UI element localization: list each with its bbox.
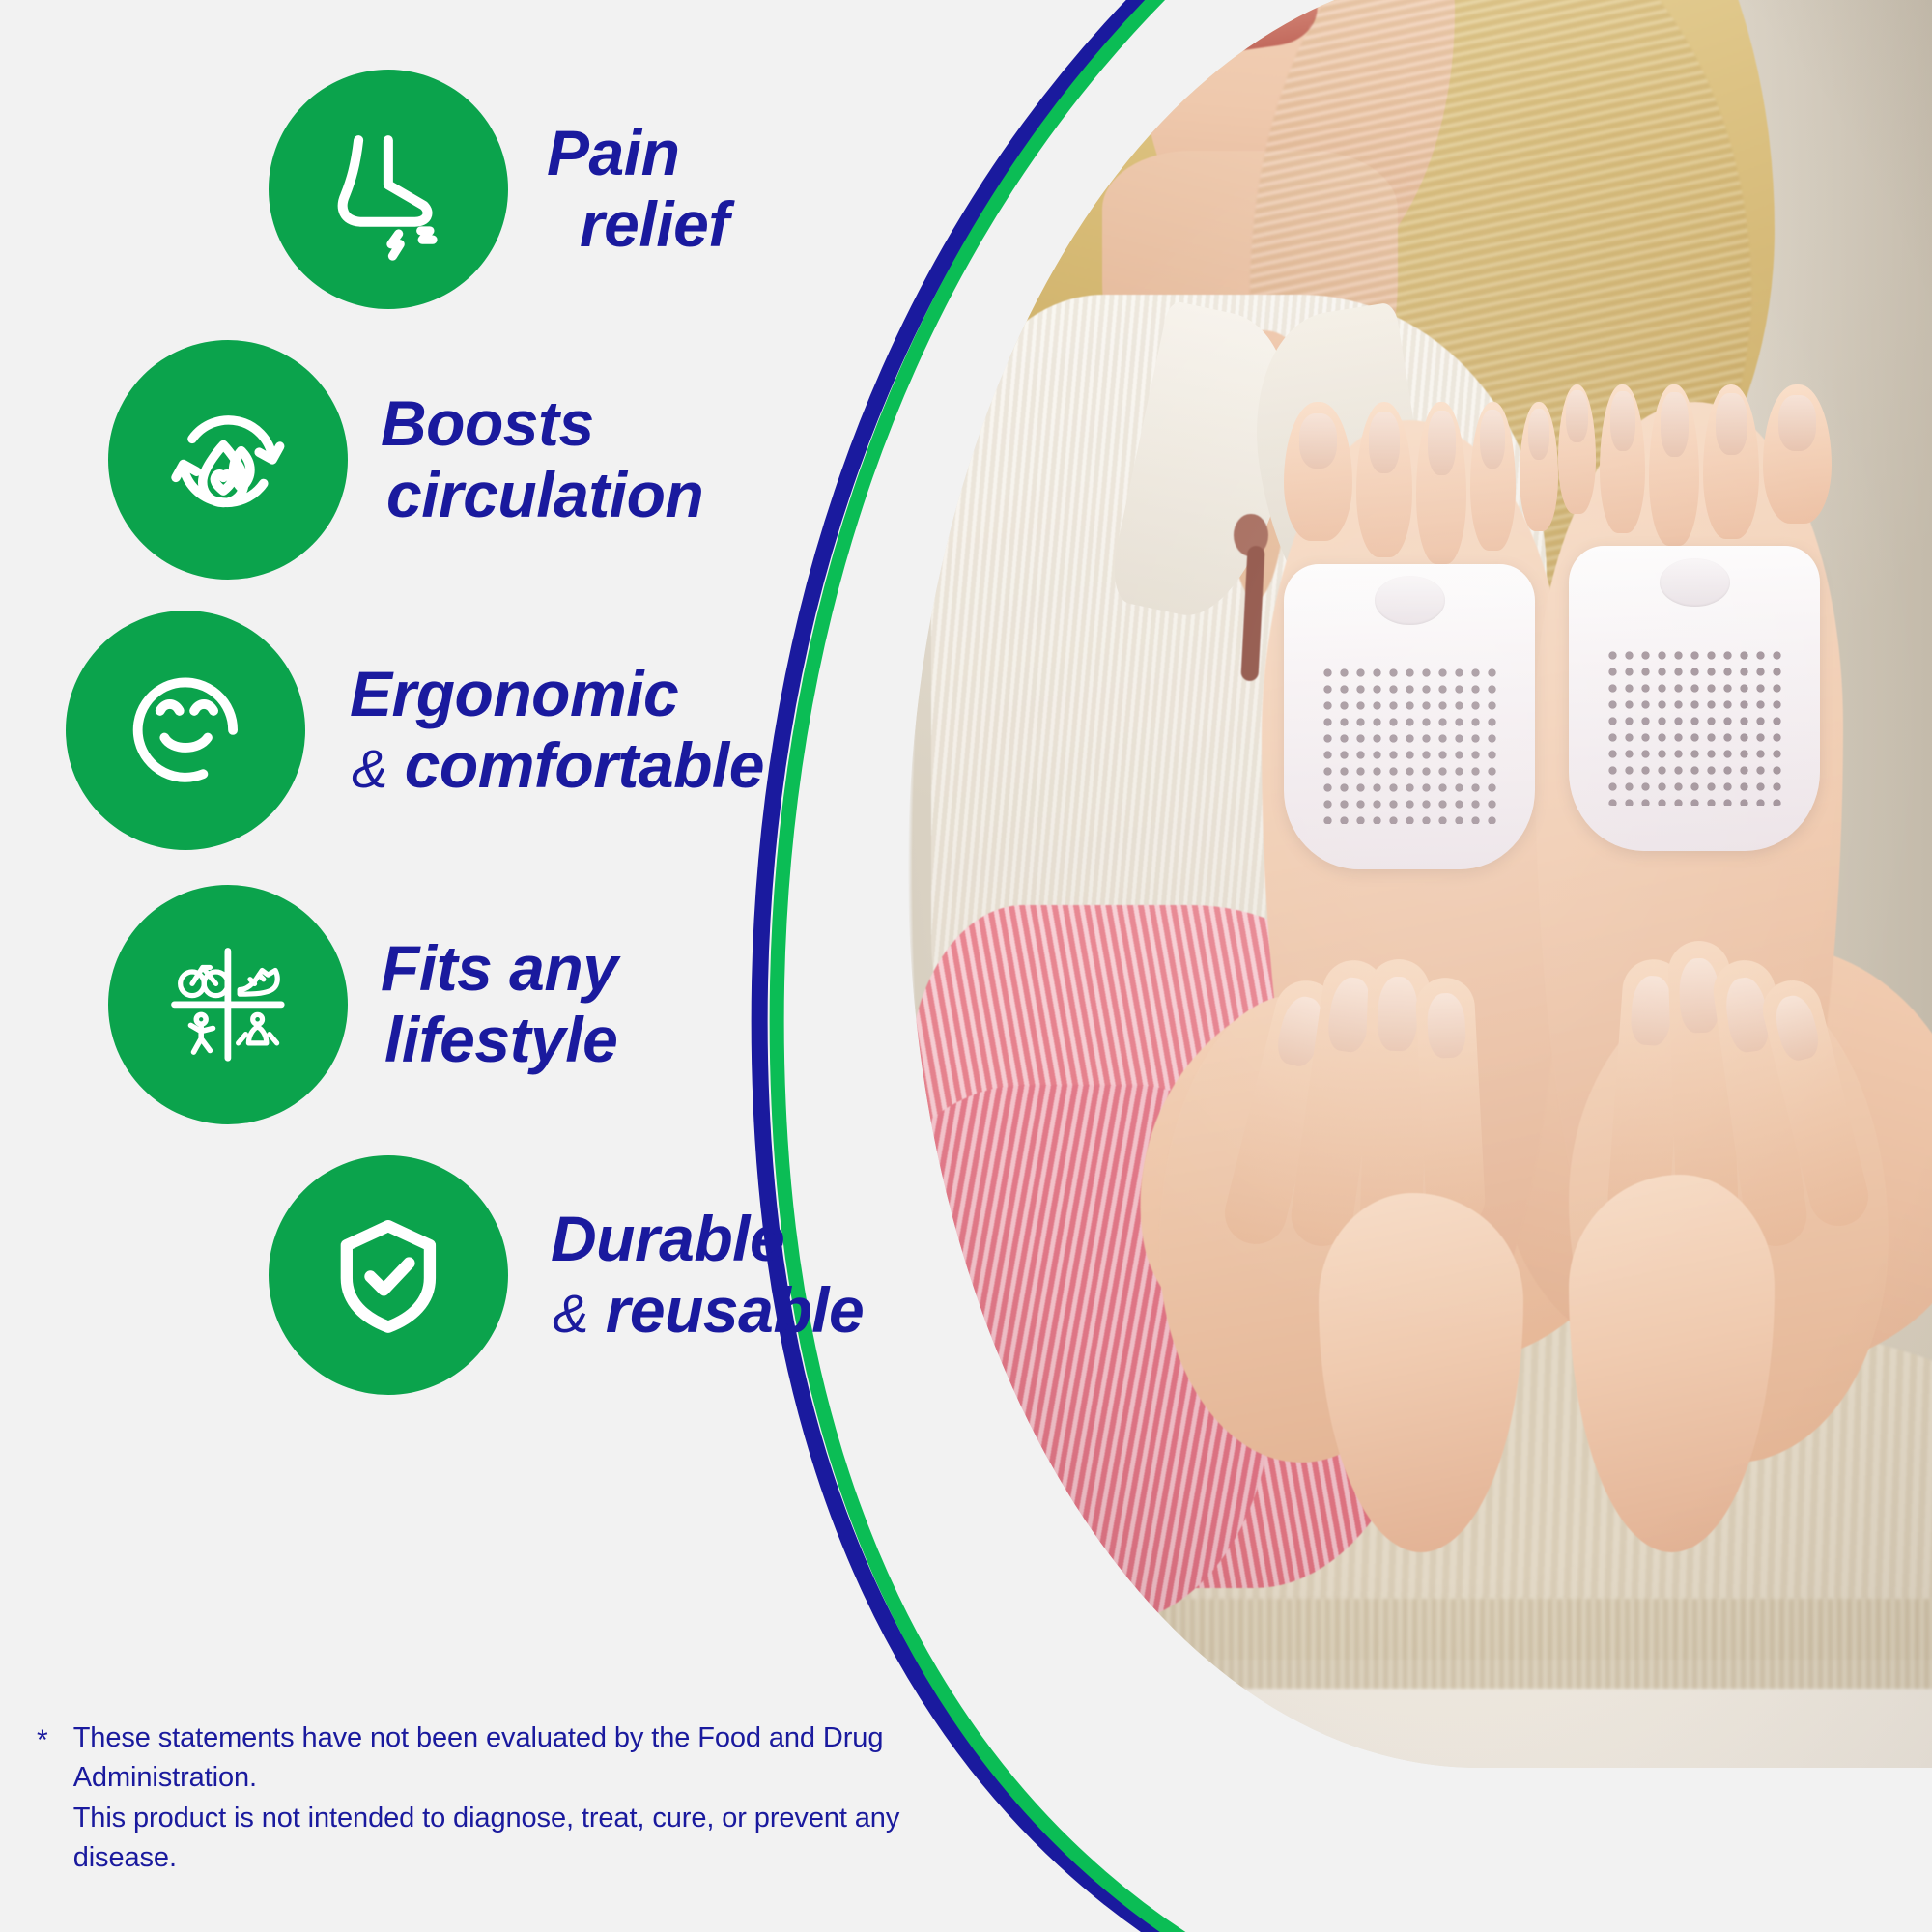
feature-label-line1: Boosts bbox=[381, 388, 703, 460]
feature-label: Durable & reusable bbox=[551, 1204, 864, 1347]
shield-check-icon bbox=[314, 1201, 463, 1350]
disclaimer-marker: * bbox=[37, 1719, 48, 1755]
feature-item-ergonomic[interactable]: Ergonomic & comfortable bbox=[66, 611, 764, 850]
feature-label-line2: reusable bbox=[606, 1274, 864, 1346]
feature-label-ampersand: & bbox=[352, 738, 387, 799]
feature-label-ampersand: & bbox=[553, 1283, 588, 1344]
feature-label-line2: circulation bbox=[381, 460, 703, 531]
smiley-face-icon bbox=[111, 656, 260, 805]
feature-icon-circle bbox=[269, 70, 508, 309]
feature-item-boosts-circulation[interactable]: Boosts circulation bbox=[108, 340, 703, 580]
foot-patch-left bbox=[1284, 564, 1535, 869]
feature-label: Boosts circulation bbox=[381, 388, 703, 531]
product-photo bbox=[908, 0, 1932, 1768]
feature-list: Pain relief bbox=[0, 0, 908, 1507]
feature-item-pain-relief[interactable]: Pain relief bbox=[269, 70, 729, 309]
feature-icon-circle bbox=[269, 1155, 508, 1395]
feature-label-line2-wrap: & comfortable bbox=[350, 730, 764, 802]
infographic-canvas: Pain relief bbox=[0, 0, 1932, 1932]
feature-label-line2: relief bbox=[547, 189, 729, 261]
feature-icon-circle bbox=[108, 885, 348, 1124]
feature-icon-circle bbox=[66, 611, 305, 850]
feature-item-durable[interactable]: Durable & reusable bbox=[269, 1155, 864, 1395]
feature-label: Pain relief bbox=[547, 118, 729, 261]
feature-label-line2: comfortable bbox=[405, 729, 764, 801]
photo-toes-left bbox=[1284, 402, 1557, 563]
feature-label-line1: Pain bbox=[547, 118, 729, 189]
disclaimer: * These statements have not been evaluat… bbox=[37, 1719, 925, 1878]
disclaimer-text: These statements have not been evaluated… bbox=[73, 1719, 925, 1878]
lifestyle-grid-icon bbox=[154, 930, 302, 1079]
feature-label-line2-wrap: & reusable bbox=[551, 1275, 864, 1347]
feature-label-line1: Durable bbox=[551, 1204, 864, 1275]
feature-label-line2: lifestyle bbox=[381, 1005, 617, 1076]
feature-item-lifestyle[interactable]: Fits any lifestyle bbox=[108, 885, 617, 1124]
feature-label-line1: Fits any bbox=[381, 933, 617, 1005]
circulation-icon bbox=[154, 385, 302, 534]
foot-patch-right bbox=[1569, 546, 1820, 851]
disclaimer-line-2: This product is not intended to diagnose… bbox=[73, 1799, 925, 1878]
feature-label: Fits any lifestyle bbox=[381, 933, 617, 1076]
feature-label: Ergonomic & comfortable bbox=[350, 659, 764, 802]
feature-label-line1: Ergonomic bbox=[350, 659, 764, 730]
disclaimer-line-1: These statements have not been evaluated… bbox=[73, 1719, 925, 1798]
photo-toes-right bbox=[1558, 384, 1832, 546]
feature-icon-circle bbox=[108, 340, 348, 580]
foot-pain-icon bbox=[314, 115, 463, 264]
